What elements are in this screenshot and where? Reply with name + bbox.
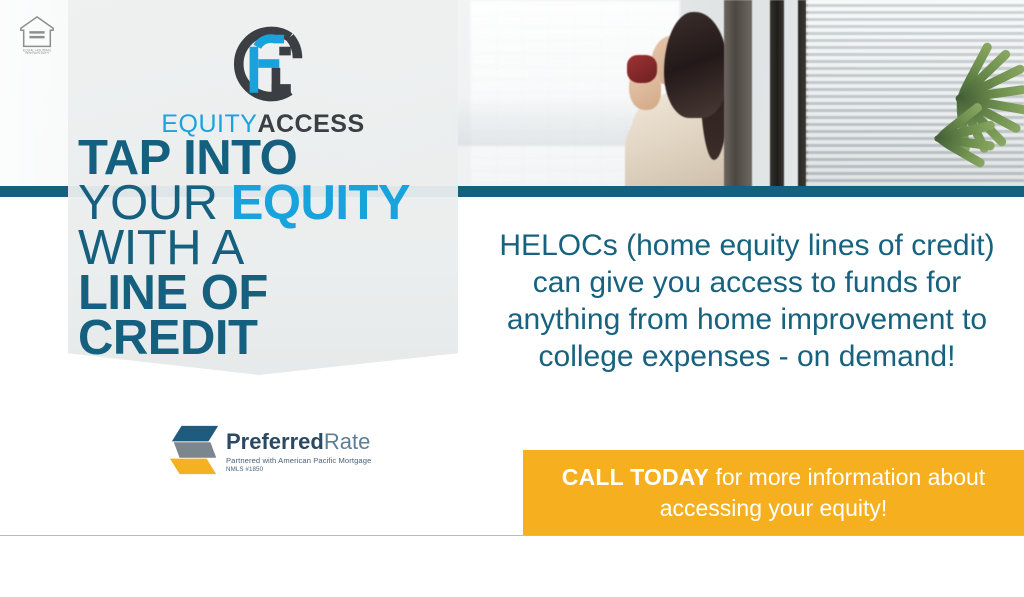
preferred-rate-mark-icon	[168, 422, 222, 478]
preferred-rate-text-block: PreferredRate Partnered with American Pa…	[226, 422, 371, 473]
footer-whitespace	[0, 536, 1024, 597]
headline-line-3: WITH A	[78, 226, 450, 271]
preferred-rate-nmls: NMLS #1850	[226, 466, 371, 473]
equity-access-logo: EQUITYACCESS	[148, 18, 378, 136]
headline-line-2: YOUR EQUITY	[78, 181, 450, 226]
headline-block: TAP INTO YOUR EQUITY WITH A LINE OF CRED…	[78, 136, 450, 361]
preferred-rate-name-light: Rate	[324, 429, 370, 454]
cta-rest-label: for more information about accessing you…	[660, 464, 986, 520]
cta-text: CALL TODAY for more information about ac…	[537, 462, 1010, 523]
equity-access-circular-mark	[215, 18, 311, 110]
body-paragraph: HELOCs (home equity lines of credit) can…	[492, 228, 1002, 376]
preferred-rate-name: PreferredRate	[226, 431, 371, 453]
heloc-marketing-flyer: EQUITYACCESS TAP INTO YOUR EQUITY WITH A…	[0, 0, 1024, 597]
call-to-action-banner[interactable]: CALL TODAY for more information about ac…	[523, 450, 1024, 535]
preferred-rate-tagline: Partnered with American Pacific Mortgage	[226, 456, 371, 465]
headline-line-4: LINE OF CREDIT	[78, 271, 450, 361]
headline-line-1: TAP INTO	[78, 136, 450, 181]
preferred-rate-name-bold: Preferred	[226, 429, 324, 454]
preferred-rate-logo: PreferredRate Partnered with American Pa…	[168, 422, 368, 488]
svg-text:OPPORTUNITY: OPPORTUNITY	[25, 51, 50, 54]
equal-housing-opportunity-icon: EQUAL HOUSING OPPORTUNITY	[18, 14, 56, 54]
cta-strong-label: CALL TODAY	[562, 464, 709, 490]
headline-line-2-accent: EQUITY	[231, 176, 410, 230]
